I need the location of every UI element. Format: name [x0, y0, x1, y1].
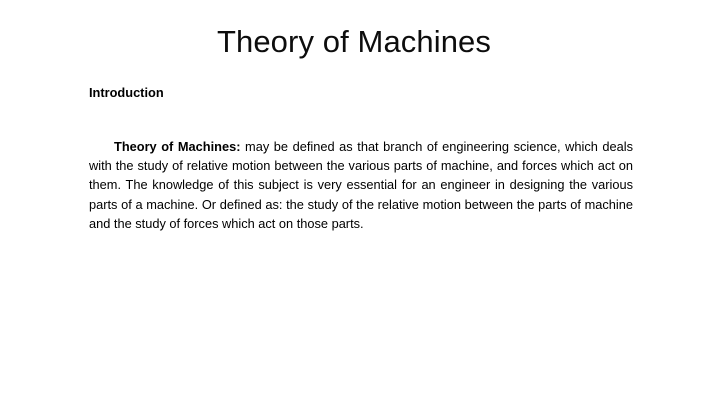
slide-canvas: Theory of Machines Introduction Theory o… [0, 0, 720, 405]
paragraph-spacer [89, 101, 633, 137]
body-content: Introduction Theory of Machines: may be … [89, 84, 633, 233]
definition-paragraph: Theory of Machines: may be defined as th… [89, 137, 633, 233]
section-heading-introduction: Introduction [89, 84, 633, 101]
page-title: Theory of Machines [0, 22, 708, 62]
definition-term: Theory of Machines: [114, 139, 240, 154]
